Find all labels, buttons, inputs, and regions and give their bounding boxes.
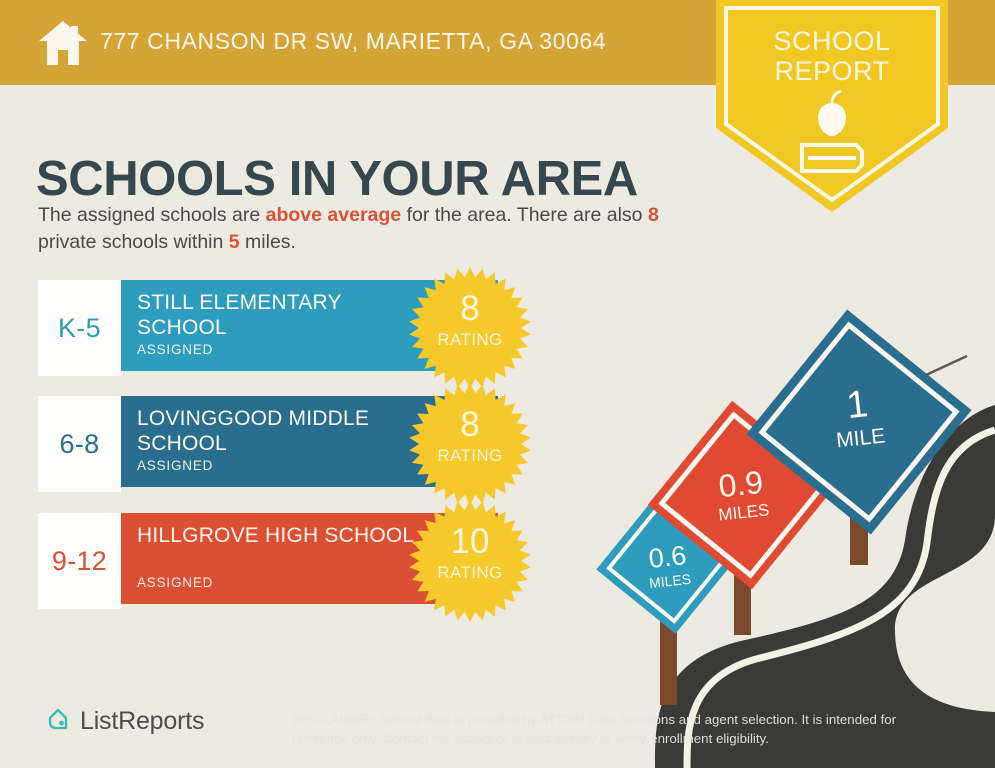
svg-text:0.6: 0.6 (647, 540, 687, 574)
school-row[interactable]: 6-8 LOVINGGOOD MIDDLE SCHOOL ASSIGNED 8 … (38, 396, 498, 492)
rating-label: RATING (408, 563, 532, 583)
banner-line-1: SCHOOL (716, 26, 948, 56)
rating-label: RATING (408, 330, 532, 350)
rating-badge: 8 RATING (408, 266, 532, 390)
subtitle-highlight-private-count: 8 (648, 204, 659, 226)
starburst-icon (408, 266, 532, 390)
school-status: ASSIGNED (137, 575, 213, 590)
school-status: ASSIGNED (137, 458, 213, 473)
rating-label: RATING (408, 446, 532, 466)
page-subtitle: The assigned schools are above average f… (38, 202, 698, 256)
starburst-icon (408, 499, 532, 623)
subtitle-text-2: for the area. There are also (401, 204, 648, 226)
subtitle-text-1: The assigned schools are (38, 204, 266, 226)
subtitle-text-4: miles. (240, 231, 296, 253)
grade-label: K-5 (58, 313, 101, 344)
svg-text:1: 1 (845, 383, 870, 427)
school-name: LOVINGGOOD MIDDLE SCHOOL (137, 406, 437, 456)
infographic-page: 777 CHANSON DR SW, MARIETTA, GA 30064 SC… (0, 0, 995, 768)
listreports-wordmark: ListReports (80, 707, 204, 736)
grade-label: 6-8 (60, 429, 100, 460)
disclaimer-text: DISCLAIMER: School data is provided by A… (292, 710, 952, 748)
school-report-banner-text: SCHOOL REPORT (716, 26, 948, 86)
starburst-icon (408, 382, 532, 506)
road-signs-illustration: 0.6 MILES 0.9 MILES 1 MILE (595, 300, 995, 768)
subtitle-text-3: private schools within (38, 231, 229, 253)
subtitle-highlight-above-average: above average (266, 204, 402, 226)
school-name: HILLGROVE HIGH SCHOOL (137, 523, 437, 548)
svg-text:0.9: 0.9 (717, 464, 765, 504)
rating-badge: 10 RATING (408, 499, 532, 623)
rating-value: 8 (408, 407, 532, 443)
property-address: 777 CHANSON DR SW, MARIETTA, GA 30064 (100, 28, 606, 55)
school-name: STILL ELEMENTARY SCHOOL (137, 290, 437, 340)
school-row[interactable]: K-5 STILL ELEMENTARY SCHOOL ASSIGNED 8 R… (38, 280, 498, 376)
rating-badge: 8 RATING (408, 382, 532, 506)
banner-line-2: REPORT (716, 56, 948, 86)
grade-badge: 9-12 (38, 513, 121, 609)
rating-value: 10 (408, 524, 532, 560)
listreports-logo[interactable]: ListReports (42, 706, 204, 736)
school-row[interactable]: 9-12 HILLGROVE HIGH SCHOOL ASSIGNED 10 R… (38, 513, 498, 609)
school-status: ASSIGNED (137, 342, 213, 357)
rating-value: 8 (408, 291, 532, 327)
grade-badge: 6-8 (38, 396, 121, 492)
grade-label: 9-12 (52, 546, 107, 577)
house-icon (38, 20, 88, 66)
listreports-house-icon (42, 706, 72, 736)
subtitle-highlight-radius: 5 (229, 231, 240, 253)
grade-badge: K-5 (38, 280, 121, 376)
page-title: SCHOOLS IN YOUR AREA (36, 151, 638, 207)
